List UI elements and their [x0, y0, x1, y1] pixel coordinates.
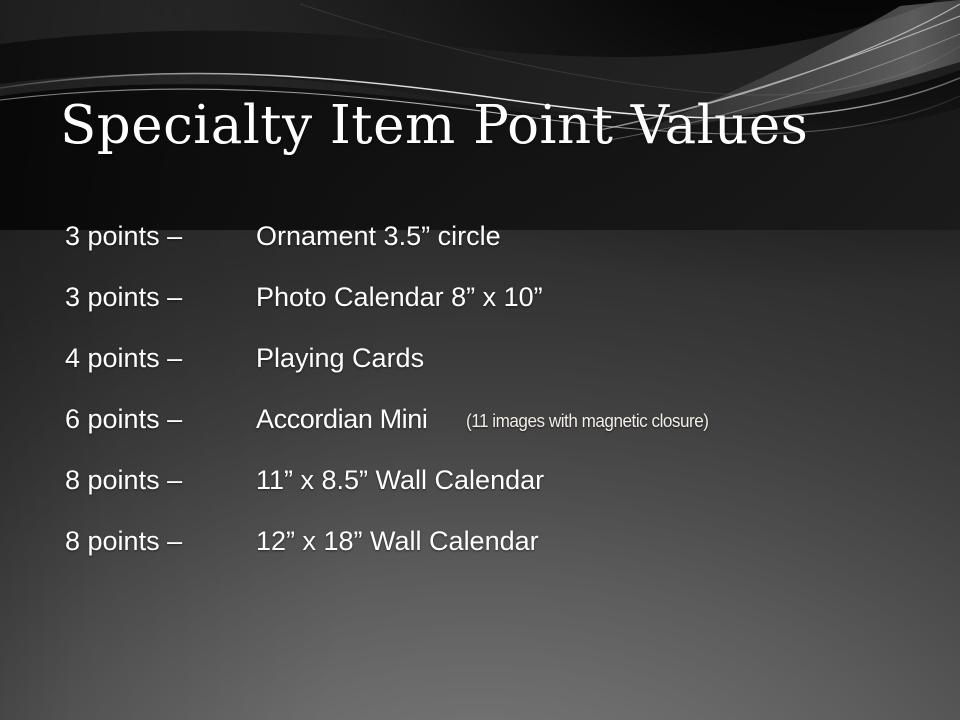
item-points: 3 points –	[65, 219, 250, 253]
list-item: 8 points – 12” x 18” Wall Calendar	[0, 524, 960, 585]
item-description: 12” x 18” Wall Calendar	[256, 524, 539, 558]
slide-title: Specialty Item Point Values	[60, 94, 920, 158]
item-description: 11” x 8.5” Wall Calendar	[256, 463, 544, 497]
point-values-list: 3 points – Ornament 3.5” circle 3 points…	[0, 219, 960, 585]
item-description: Photo Calendar 8” x 10”	[256, 280, 543, 314]
item-points: 4 points –	[65, 341, 250, 375]
item-points: 6 points –	[65, 402, 250, 436]
list-item: 4 points – Playing Cards	[0, 341, 960, 402]
list-item: 6 points – Accordian Mini (11 images wit…	[0, 402, 960, 463]
list-item: 8 points – 11” x 8.5” Wall Calendar	[0, 463, 960, 524]
presentation-slide: Specialty Item Point Values 3 points – O…	[0, 0, 960, 720]
item-description: Playing Cards	[256, 341, 424, 375]
item-points: 3 points –	[65, 280, 250, 314]
list-item: 3 points – Ornament 3.5” circle	[0, 219, 960, 280]
item-points: 8 points –	[65, 524, 250, 558]
list-item: 3 points – Photo Calendar 8” x 10”	[0, 280, 960, 341]
item-note: (11 images with magnetic closure)	[466, 409, 709, 433]
item-description: Accordian Mini	[256, 402, 427, 436]
item-description: Ornament 3.5” circle	[256, 219, 501, 253]
item-points: 8 points –	[65, 463, 250, 497]
